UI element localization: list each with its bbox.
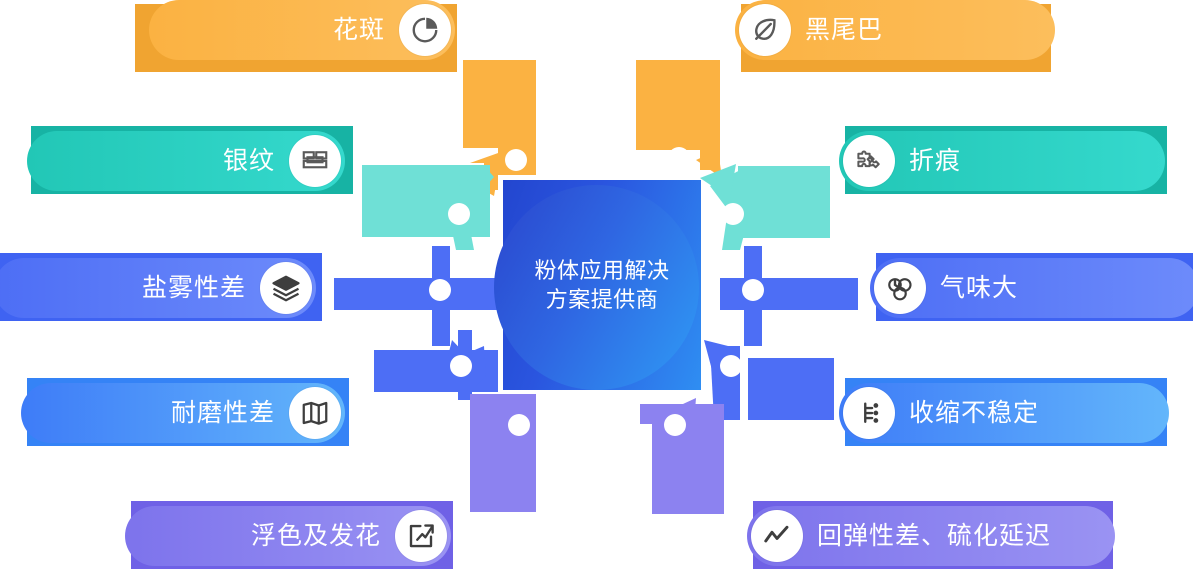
connector-right-3 bbox=[720, 246, 858, 346]
node-left-1[interactable]: 花斑 bbox=[149, 0, 455, 60]
connector-left-5 bbox=[470, 394, 536, 512]
node-left-4-label: 耐磨性差 bbox=[171, 401, 275, 426]
node-right-4-label: 收缩不稳定 bbox=[909, 401, 1039, 426]
puzzle-icon bbox=[843, 135, 895, 187]
node-right-2[interactable]: 折痕 bbox=[839, 131, 1165, 191]
node-left-3-label: 盐雾性差 bbox=[142, 276, 246, 301]
center-label-line1: 粉体应用解决 bbox=[534, 256, 669, 285]
node-right-5-label: 回弹性差、硫化延迟 bbox=[817, 524, 1051, 549]
connector-right-2 bbox=[700, 164, 830, 250]
connector-left-1 bbox=[462, 60, 536, 196]
node-right-1-label: 黑尾巴 bbox=[805, 18, 883, 43]
node-left-1-label: 花斑 bbox=[333, 18, 385, 43]
infographic-canvas: 花斑 银纹 盐雾性差 耐磨性差 bbox=[0, 0, 1193, 577]
node-left-2[interactable]: 银纹 bbox=[27, 131, 345, 191]
sitemap-icon bbox=[843, 387, 895, 439]
node-right-2-label: 折痕 bbox=[909, 149, 961, 174]
line-chart-icon bbox=[751, 510, 803, 562]
node-left-2-label: 银纹 bbox=[223, 149, 275, 174]
center-label: 粉体应用解决 方案提供商 bbox=[503, 180, 701, 390]
open-book-icon bbox=[289, 387, 341, 439]
node-right-5[interactable]: 回弹性差、硫化延迟 bbox=[747, 506, 1115, 566]
connector-left-4 bbox=[374, 330, 498, 400]
node-left-3[interactable]: 盐雾性差 bbox=[0, 258, 316, 318]
layers-icon bbox=[260, 262, 312, 314]
brick-wall-icon bbox=[289, 135, 341, 187]
node-left-5-label: 浮色及发花 bbox=[251, 524, 381, 549]
node-right-3[interactable]: 气味大 bbox=[870, 258, 1193, 318]
connector-right-5 bbox=[640, 398, 724, 514]
recycle-icon bbox=[874, 262, 926, 314]
center-node[interactable]: 粉体应用解决 方案提供商 bbox=[503, 180, 701, 390]
pie-chart-icon bbox=[399, 4, 451, 56]
center-label-line2: 方案提供商 bbox=[546, 285, 659, 314]
connector-left-2 bbox=[362, 165, 494, 250]
trending-up-box-icon bbox=[395, 510, 447, 562]
connector-right-4 bbox=[704, 340, 834, 420]
connector-left-3 bbox=[334, 246, 500, 346]
node-right-1[interactable]: 黑尾巴 bbox=[735, 0, 1055, 60]
node-right-3-label: 气味大 bbox=[940, 276, 1018, 301]
node-right-4[interactable]: 收缩不稳定 bbox=[839, 383, 1169, 443]
leaf-icon bbox=[739, 4, 791, 56]
connector-right-1 bbox=[636, 60, 722, 178]
node-left-4[interactable]: 耐磨性差 bbox=[21, 383, 345, 443]
node-left-5[interactable]: 浮色及发花 bbox=[125, 506, 451, 566]
